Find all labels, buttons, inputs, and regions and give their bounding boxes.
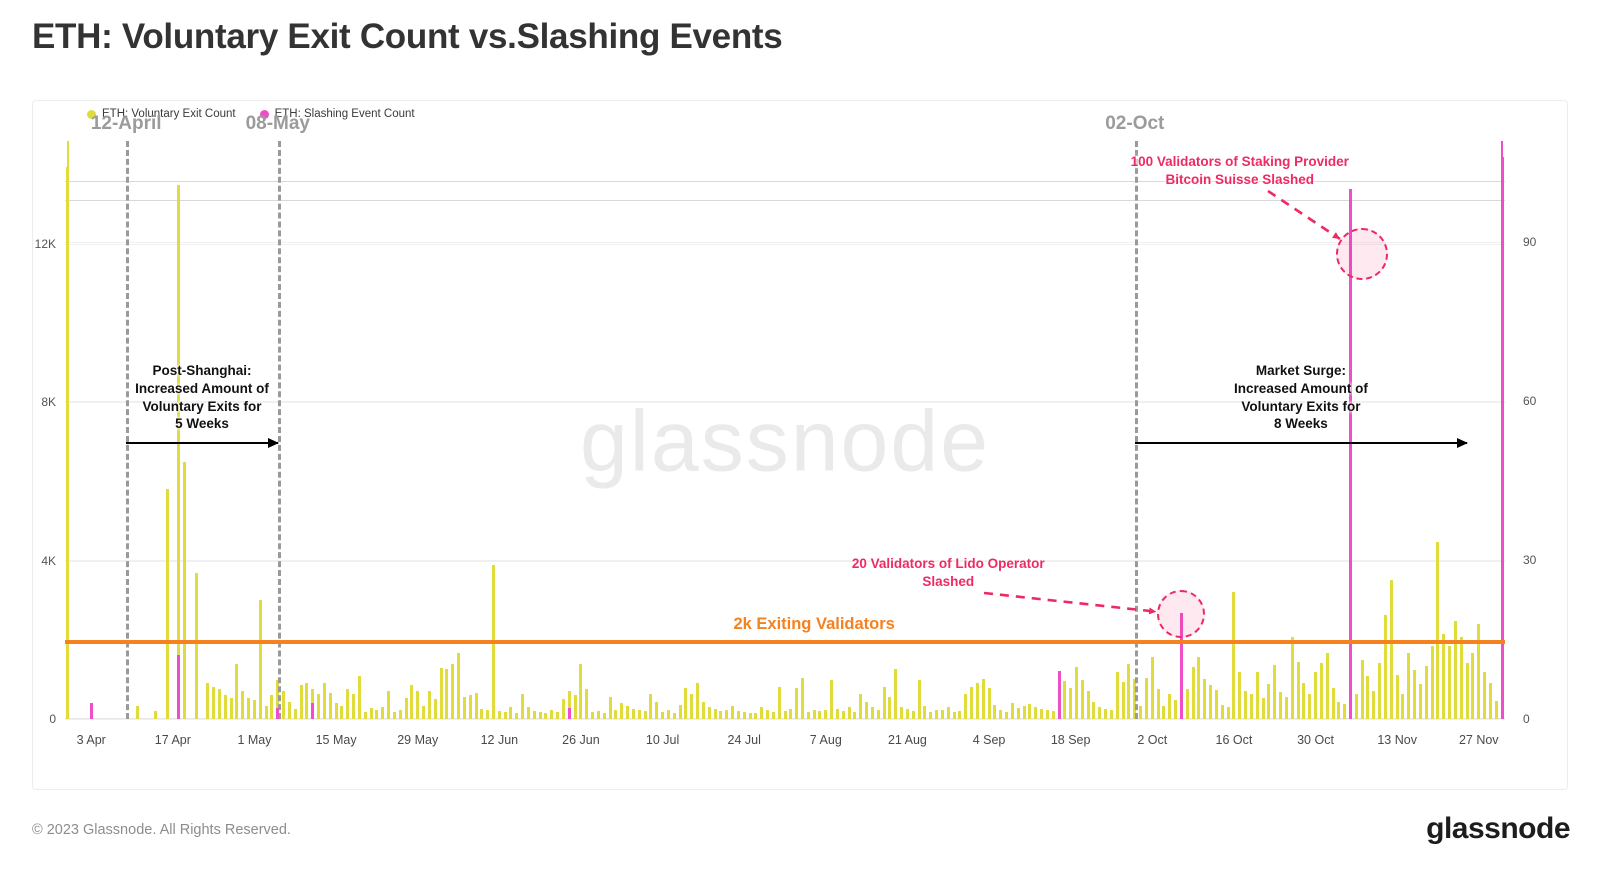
bar-voluntary-exit bbox=[1431, 646, 1434, 719]
x-axis-tick: 7 Aug bbox=[810, 733, 842, 747]
bar-voluntary-exit bbox=[515, 713, 518, 719]
bar-voluntary-exit bbox=[550, 710, 553, 720]
bar-voluntary-exit bbox=[947, 707, 950, 719]
bar-voluntary-exit bbox=[1203, 679, 1206, 719]
annotation-line: Voluntary Exits for bbox=[135, 398, 269, 416]
bar-voluntary-exit bbox=[807, 712, 810, 719]
bar-voluntary-exit bbox=[929, 712, 932, 719]
bar-voluntary-exit bbox=[679, 705, 682, 719]
bar-voluntary-exit bbox=[1221, 705, 1224, 719]
bar-voluntary-exit bbox=[824, 710, 827, 720]
bar-voluntary-exit bbox=[1087, 691, 1090, 719]
date-separator bbox=[278, 141, 281, 719]
y-axis-left-tick: 8K bbox=[41, 395, 56, 409]
bar-voluntary-exit bbox=[603, 713, 606, 719]
callout-line: 20 Validators of Lido Operator bbox=[852, 555, 1045, 573]
bar-voluntary-exit bbox=[1273, 665, 1276, 719]
annotation-line: Increased Amount of bbox=[135, 380, 269, 398]
bar-voluntary-exit bbox=[1104, 709, 1107, 719]
bar-voluntary-exit bbox=[1215, 690, 1218, 719]
bar-voluntary-exit bbox=[434, 699, 437, 719]
bar-voluntary-exit bbox=[480, 709, 483, 719]
bar-voluntary-exit bbox=[486, 710, 489, 719]
bar-voluntary-exit bbox=[1355, 694, 1358, 719]
bar-voluntary-exit bbox=[247, 698, 250, 719]
bar-voluntary-exit bbox=[1046, 710, 1049, 720]
bar-voluntary-exit bbox=[270, 695, 273, 719]
y-axis-left-tick: 12K bbox=[35, 237, 56, 251]
bar-voluntary-exit bbox=[387, 691, 390, 719]
bar-voluntary-exit bbox=[469, 695, 472, 719]
bar-voluntary-exit bbox=[941, 710, 944, 719]
bar-voluntary-exit bbox=[282, 691, 285, 719]
bar-voluntary-exit bbox=[865, 702, 868, 719]
bar-voluntary-exit bbox=[894, 669, 897, 719]
bar-voluntary-exit bbox=[1495, 701, 1498, 719]
bar-voluntary-exit bbox=[1448, 646, 1451, 719]
bar-voluntary-exit bbox=[1384, 615, 1387, 719]
bar-voluntary-exit bbox=[673, 713, 676, 719]
bar-voluntary-exit bbox=[1378, 663, 1381, 719]
callout-line: Slashed bbox=[852, 573, 1045, 591]
date-separator-label: 12-April bbox=[91, 113, 162, 135]
x-axis-tick: 2 Oct bbox=[1137, 733, 1167, 747]
slashing-callout-bitcoin-suisse: 100 Validators of Staking ProviderBitcoi… bbox=[1131, 153, 1349, 189]
bar-voluntary-exit bbox=[154, 711, 157, 719]
bar-voluntary-exit bbox=[1081, 680, 1084, 719]
bar-voluntary-exit bbox=[1110, 710, 1113, 720]
bar-voluntary-exit bbox=[1174, 700, 1177, 719]
x-axis-tick: 24 Jul bbox=[728, 733, 761, 747]
bar-voluntary-exit bbox=[609, 697, 612, 719]
bar-voluntary-exit bbox=[1116, 672, 1119, 719]
bar-voluntary-exit bbox=[364, 712, 367, 719]
bar-voluntary-exit bbox=[317, 694, 320, 719]
bar-voluntary-exit bbox=[818, 711, 821, 719]
bar-voluntary-exit bbox=[224, 695, 227, 719]
bar-slashing-event bbox=[177, 655, 180, 719]
bar-voluntary-exit bbox=[1332, 688, 1335, 719]
bar-voluntary-exit bbox=[428, 691, 431, 719]
bar-voluntary-exit bbox=[1466, 663, 1469, 719]
bar-voluntary-exit bbox=[1460, 637, 1463, 719]
bar-voluntary-exit bbox=[1139, 706, 1142, 719]
bar-voluntary-exit bbox=[241, 691, 244, 719]
bar-voluntary-exit bbox=[649, 694, 652, 719]
bar-voluntary-exit bbox=[1297, 662, 1300, 719]
bar-voluntary-exit bbox=[562, 699, 565, 719]
bar-voluntary-exit bbox=[737, 711, 740, 719]
bar-voluntary-exit bbox=[661, 712, 664, 719]
slashing-callout-lido: 20 Validators of Lido OperatorSlashed bbox=[852, 555, 1045, 591]
x-axis-tick: 17 Apr bbox=[155, 733, 191, 747]
gridline bbox=[65, 719, 1505, 720]
bar-voluntary-exit bbox=[498, 711, 501, 719]
bar-voluntary-exit bbox=[888, 697, 891, 719]
bar-voluntary-exit bbox=[988, 688, 991, 719]
bar-voluntary-exit bbox=[323, 683, 326, 719]
bar-voluntary-exit bbox=[1285, 697, 1288, 719]
bar-voluntary-exit bbox=[923, 706, 926, 719]
annotation-line: Post-Shanghai: bbox=[135, 362, 269, 380]
bar-slashing-event bbox=[1058, 671, 1061, 719]
bar-voluntary-exit bbox=[253, 700, 256, 719]
bar-voluntary-exit bbox=[836, 709, 839, 719]
x-axis-tick: 15 May bbox=[316, 733, 357, 747]
bar-voluntary-exit bbox=[1454, 621, 1457, 719]
bar-voluntary-exit bbox=[749, 713, 752, 719]
bar-voluntary-exit bbox=[1291, 637, 1294, 719]
bar-voluntary-exit bbox=[1197, 657, 1200, 719]
bar-voluntary-exit bbox=[445, 669, 448, 719]
bar-voluntary-exit bbox=[451, 664, 454, 719]
bar-voluntary-exit bbox=[288, 702, 291, 719]
threshold-label: 2k Exiting Validators bbox=[733, 615, 894, 634]
bar-voluntary-exit bbox=[1483, 672, 1486, 720]
bar-voluntary-exit bbox=[1028, 704, 1031, 719]
bar-voluntary-exit bbox=[632, 709, 635, 719]
bar-voluntary-exit bbox=[1034, 707, 1037, 719]
bar-voluntary-exit bbox=[1361, 660, 1364, 719]
x-axis-tick: 12 Jun bbox=[481, 733, 519, 747]
range-annotation-post-shanghai: Post-Shanghai:Increased Amount ofVolunta… bbox=[135, 362, 269, 433]
arrow-shaft bbox=[1135, 442, 1467, 444]
bar-voluntary-exit bbox=[1262, 698, 1265, 719]
bar-voluntary-exit bbox=[329, 693, 332, 719]
range-annotation-market-surge: Market Surge:Increased Amount ofVoluntar… bbox=[1234, 362, 1368, 433]
bar-voluntary-exit bbox=[381, 707, 384, 719]
arrow-head-icon bbox=[1457, 438, 1468, 448]
bar-voluntary-exit bbox=[719, 711, 722, 719]
bar-voluntary-exit bbox=[964, 694, 967, 719]
bar-voluntary-exit bbox=[696, 683, 699, 719]
bar-voluntary-exit bbox=[265, 706, 268, 719]
bar-voluntary-exit bbox=[521, 694, 524, 719]
annotation-line: Market Surge: bbox=[1234, 362, 1368, 380]
bar-voluntary-exit bbox=[778, 687, 781, 719]
bar-voluntary-exit bbox=[801, 678, 804, 719]
bar-voluntary-exit bbox=[1151, 657, 1154, 719]
bar-voluntary-exit bbox=[585, 689, 588, 719]
bar-voluntary-exit bbox=[871, 707, 874, 719]
annotation-line: Increased Amount of bbox=[1234, 380, 1368, 398]
bar-voluntary-exit bbox=[760, 707, 763, 719]
bar-voluntary-exit bbox=[440, 668, 443, 719]
bar-voluntary-exit bbox=[859, 694, 862, 719]
bar-voluntary-exit bbox=[509, 707, 512, 719]
date-separator-label: 02-Oct bbox=[1105, 113, 1164, 135]
bar-voluntary-exit bbox=[375, 710, 378, 720]
bar-voluntary-exit bbox=[1145, 678, 1148, 719]
bar-voluntary-exit bbox=[166, 489, 169, 719]
bar-voluntary-exit bbox=[684, 688, 687, 719]
bar-voluntary-exit bbox=[1127, 664, 1130, 719]
chart-card: ETH: Voluntary Exit CountETH: Slashing E… bbox=[32, 100, 1568, 790]
bar-voluntary-exit bbox=[206, 683, 209, 719]
bar-voluntary-exit bbox=[1192, 667, 1195, 719]
page-title: ETH: Voluntary Exit Count vs.Slashing Ev… bbox=[32, 17, 782, 57]
bar-voluntary-exit bbox=[655, 702, 658, 719]
bar-voluntary-exit bbox=[305, 683, 308, 719]
bar-voluntary-exit bbox=[556, 712, 559, 719]
bar-voluntary-exit bbox=[626, 706, 629, 719]
bar-voluntary-exit bbox=[935, 710, 938, 720]
bar-voluntary-exit bbox=[1308, 694, 1311, 719]
bar-voluntary-exit bbox=[813, 710, 816, 719]
bar-voluntary-exit bbox=[1238, 672, 1241, 720]
bar-slashing-event bbox=[1501, 157, 1504, 719]
bar-voluntary-exit bbox=[1489, 683, 1492, 719]
bar-voluntary-exit bbox=[1390, 580, 1393, 719]
date-separator-label: 08-May bbox=[246, 113, 310, 135]
bar-voluntary-exit bbox=[1011, 703, 1014, 719]
arrow-head-icon bbox=[268, 438, 279, 448]
range-arrow bbox=[1135, 438, 1467, 448]
bar-voluntary-exit bbox=[982, 679, 985, 719]
bar-voluntary-exit bbox=[1366, 676, 1369, 719]
bar-voluntary-exit bbox=[1343, 704, 1346, 719]
bar-voluntary-exit bbox=[235, 664, 238, 719]
bar-voluntary-exit bbox=[335, 703, 338, 719]
plot-area: glassnode 04K8K12K03060903 Apr17 Apr1 Ma… bbox=[65, 141, 1505, 719]
bar-voluntary-exit bbox=[1267, 684, 1270, 719]
bar-voluntary-exit bbox=[457, 653, 460, 720]
bar-voluntary-exit bbox=[1017, 708, 1020, 719]
bar-voluntary-exit bbox=[731, 706, 734, 719]
bar-voluntary-exit bbox=[1413, 670, 1416, 719]
bar-voluntary-exit bbox=[848, 707, 851, 719]
bar-voluntary-exit bbox=[1023, 706, 1026, 719]
bar-voluntary-exit bbox=[1232, 592, 1235, 719]
bar-voluntary-exit bbox=[1326, 653, 1329, 720]
callout-line: Bitcoin Suisse Slashed bbox=[1131, 171, 1349, 189]
bar-voluntary-exit bbox=[795, 688, 798, 719]
bar-voluntary-exit bbox=[900, 707, 903, 719]
bar-voluntary-exit bbox=[1419, 684, 1422, 719]
bar-voluntary-exit bbox=[422, 706, 425, 719]
x-axis-tick: 29 May bbox=[397, 733, 438, 747]
bar-voluntary-exit bbox=[136, 706, 139, 719]
bar-voluntary-exit bbox=[702, 702, 705, 719]
bar-voluntary-exit bbox=[218, 689, 221, 719]
bar-voluntary-exit bbox=[358, 676, 361, 719]
bar-voluntary-exit bbox=[544, 713, 547, 719]
bar-voluntary-exit bbox=[416, 691, 419, 720]
bar-voluntary-exit bbox=[370, 708, 373, 719]
bar-voluntary-exit bbox=[340, 706, 343, 719]
bar-voluntary-exit bbox=[410, 685, 413, 719]
bar-voluntary-exit bbox=[1227, 707, 1230, 719]
bar-voluntary-exit bbox=[754, 713, 757, 719]
bar-voluntary-exit bbox=[1442, 634, 1445, 719]
bar-slashing-event bbox=[568, 708, 571, 719]
bar-voluntary-exit bbox=[853, 712, 856, 719]
bar-voluntary-exit bbox=[1157, 689, 1160, 719]
bar-voluntary-exit bbox=[999, 710, 1002, 719]
bar-voluntary-exit bbox=[1372, 691, 1375, 719]
threshold-line bbox=[65, 640, 1505, 644]
bar-voluntary-exit bbox=[1122, 682, 1125, 719]
bar-voluntary-exit bbox=[1436, 542, 1439, 719]
bar-voluntary-exit bbox=[1063, 681, 1066, 719]
annotation-line: 5 Weeks bbox=[135, 415, 269, 433]
bar-voluntary-exit bbox=[399, 710, 402, 720]
bar-voluntary-exit bbox=[877, 710, 880, 720]
bar-voluntary-exit bbox=[1098, 707, 1101, 719]
bar-voluntary-exit bbox=[714, 709, 717, 719]
bar-voluntary-exit bbox=[1005, 712, 1008, 719]
bar-voluntary-exit bbox=[842, 711, 845, 719]
bar-voluntary-exit bbox=[579, 664, 582, 719]
bar-voluntary-exit bbox=[958, 711, 961, 719]
date-separator bbox=[126, 141, 129, 719]
bar-voluntary-exit bbox=[789, 709, 792, 719]
bar-voluntary-exit bbox=[1069, 688, 1072, 719]
bar-voluntary-exit bbox=[352, 694, 355, 719]
range-arrow bbox=[126, 438, 278, 448]
callout-leader-line bbox=[1256, 179, 1352, 251]
bar-voluntary-exit bbox=[970, 687, 973, 719]
copyright-text: © 2023 Glassnode. All Rights Reserved. bbox=[32, 822, 291, 838]
bar-voluntary-exit bbox=[690, 694, 693, 719]
bar-voluntary-exit bbox=[1075, 667, 1078, 719]
y-axis-right-tick: 0 bbox=[1523, 712, 1530, 726]
bar-voluntary-exit bbox=[195, 573, 198, 719]
bar-voluntary-exit bbox=[1250, 694, 1253, 719]
x-axis-tick: 4 Sep bbox=[973, 733, 1006, 747]
x-axis-tick: 30 Oct bbox=[1297, 733, 1334, 747]
bar-voluntary-exit bbox=[230, 698, 233, 719]
bar-voluntary-exit bbox=[725, 710, 728, 720]
bar-voluntary-exit bbox=[300, 685, 303, 719]
bar-voluntary-exit bbox=[597, 711, 600, 719]
bar-voluntary-exit bbox=[212, 687, 215, 719]
bar-voluntary-exit bbox=[830, 680, 833, 719]
x-axis-tick: 1 May bbox=[237, 733, 271, 747]
bar-voluntary-exit bbox=[614, 710, 617, 720]
bar-voluntary-exit bbox=[1244, 691, 1247, 719]
bar-voluntary-exit bbox=[539, 712, 542, 719]
annotation-line: 8 Weeks bbox=[1234, 415, 1368, 433]
bar-slashing-event bbox=[311, 703, 314, 719]
bar-voluntary-exit bbox=[475, 693, 478, 719]
bar-voluntary-exit bbox=[1162, 706, 1165, 719]
x-axis-tick: 10 Jul bbox=[646, 733, 679, 747]
bar-voluntary-exit bbox=[533, 711, 536, 719]
bar-voluntary-exit bbox=[1425, 666, 1428, 719]
bar-voluntary-exit bbox=[918, 680, 921, 719]
bar-voluntary-exit bbox=[504, 712, 507, 719]
date-separator bbox=[1135, 141, 1138, 719]
y-axis-left-tick: 0 bbox=[49, 712, 56, 726]
bar-voluntary-exit bbox=[1092, 702, 1095, 719]
bar-voluntary-exit bbox=[1279, 692, 1282, 719]
bar-voluntary-exit bbox=[183, 462, 186, 719]
x-axis-tick: 3 Apr bbox=[77, 733, 106, 747]
bar-voluntary-exit bbox=[993, 705, 996, 719]
y-axis-left-tick: 4K bbox=[41, 554, 56, 568]
bar-voluntary-exit bbox=[708, 707, 711, 719]
bar-voluntary-exit bbox=[953, 712, 956, 719]
x-axis-tick: 26 Jun bbox=[562, 733, 600, 747]
bar-voluntary-exit bbox=[620, 703, 623, 719]
arrow-shaft bbox=[126, 442, 278, 444]
bar-voluntary-exit bbox=[912, 711, 915, 719]
x-axis-tick: 18 Sep bbox=[1051, 733, 1091, 747]
callout-line: 100 Validators of Staking Provider bbox=[1131, 153, 1349, 171]
bar-voluntary-exit bbox=[1040, 709, 1043, 719]
x-axis-tick: 16 Oct bbox=[1215, 733, 1252, 747]
x-axis-tick: 21 Aug bbox=[888, 733, 927, 747]
bar-voluntary-exit bbox=[259, 600, 262, 719]
bar-voluntary-exit bbox=[906, 709, 909, 719]
bar-voluntary-exit bbox=[1168, 694, 1171, 719]
bar-voluntary-exit bbox=[784, 711, 787, 719]
chart-page: ETH: Voluntary Exit Count vs.Slashing Ev… bbox=[0, 0, 1600, 883]
bar-voluntary-exit bbox=[883, 687, 886, 719]
bar-voluntary-exit bbox=[766, 710, 769, 720]
bar-voluntary-exit bbox=[1401, 694, 1404, 719]
bar-voluntary-exit bbox=[1396, 675, 1399, 719]
y-axis-right-tick: 90 bbox=[1523, 235, 1536, 249]
bar-voluntary-exit bbox=[1052, 711, 1055, 719]
bar-voluntary-exit bbox=[463, 697, 466, 719]
bar-voluntary-exit bbox=[1337, 702, 1340, 719]
bar-voluntary-exit bbox=[1186, 689, 1189, 719]
bar-voluntary-exit bbox=[667, 710, 670, 719]
bar-voluntary-exit bbox=[1256, 672, 1259, 719]
glassnode-logo: glassnode bbox=[1426, 812, 1570, 846]
bar-voluntary-exit bbox=[393, 712, 396, 719]
y-axis-right-tick: 30 bbox=[1523, 553, 1536, 567]
bar-voluntary-exit bbox=[1320, 663, 1323, 719]
bar-slashing-event bbox=[276, 708, 279, 719]
bar-voluntary-exit bbox=[1302, 683, 1305, 719]
bar-voluntary-exit bbox=[644, 711, 647, 719]
bar-voluntary-exit bbox=[405, 698, 408, 719]
bar-voluntary-exit bbox=[591, 712, 594, 719]
x-axis-tick: 13 Nov bbox=[1377, 733, 1417, 747]
annotation-line: Voluntary Exits for bbox=[1234, 398, 1368, 416]
bar-voluntary-exit bbox=[976, 683, 979, 719]
x-axis-tick: 27 Nov bbox=[1459, 733, 1499, 747]
bar-voluntary-exit bbox=[1209, 685, 1212, 719]
bar-voluntary-exit bbox=[1314, 672, 1317, 720]
edge-line-start bbox=[67, 141, 70, 719]
bar-voluntary-exit bbox=[772, 712, 775, 719]
bar-voluntary-exit bbox=[574, 695, 577, 719]
bar-voluntary-exit bbox=[294, 709, 297, 719]
bar-voluntary-exit bbox=[346, 689, 349, 719]
bar-voluntary-exit bbox=[1471, 653, 1474, 719]
bar-voluntary-exit bbox=[1477, 624, 1480, 719]
bar-voluntary-exit bbox=[638, 710, 641, 719]
bar-voluntary-exit bbox=[527, 707, 530, 719]
bar-voluntary-exit bbox=[743, 712, 746, 719]
bar-slashing-event bbox=[90, 703, 93, 719]
bar-voluntary-exit bbox=[1407, 653, 1410, 719]
y-axis-right-tick: 60 bbox=[1523, 394, 1536, 408]
